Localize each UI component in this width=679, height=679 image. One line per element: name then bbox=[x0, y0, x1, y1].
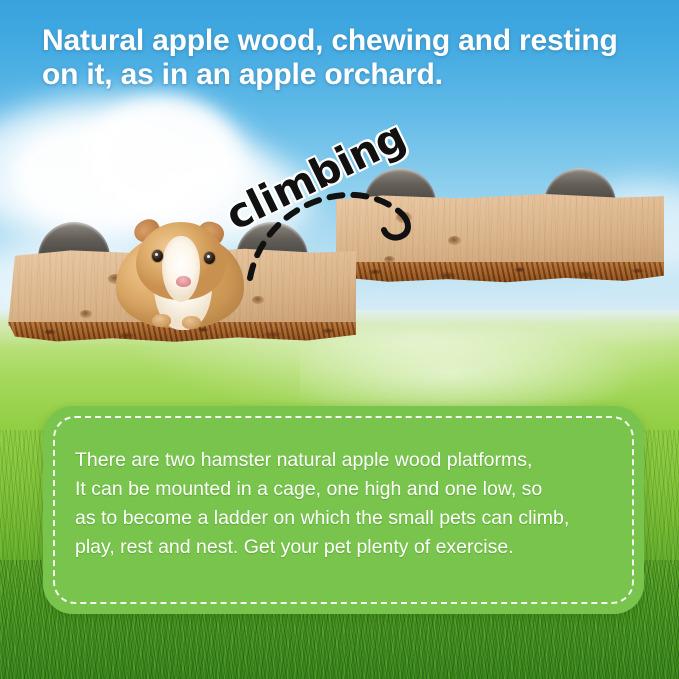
description-panel: There are two hamster natural apple wood… bbox=[43, 406, 644, 614]
page-title: Natural apple wood, chewing and resting … bbox=[42, 24, 652, 92]
guinea-pig-foot-left bbox=[152, 314, 171, 327]
guinea-pig bbox=[110, 210, 250, 330]
guinea-pig-foot-right bbox=[182, 316, 201, 329]
description-line-2: It can be mounted in a cage, one high an… bbox=[75, 475, 615, 504]
description-line-1: There are two hamster natural apple wood… bbox=[75, 446, 615, 475]
description-line-4: play, rest and nest. Get your pet plenty… bbox=[75, 533, 615, 562]
headline-line-1: Natural apple wood, chewing and resting bbox=[42, 24, 652, 58]
wood-knot bbox=[252, 296, 264, 304]
guinea-pig-eye-right bbox=[204, 252, 215, 264]
headline-line-2: on it, as in an apple orchard. bbox=[42, 58, 652, 92]
description-text: There are two hamster natural apple wood… bbox=[75, 446, 615, 562]
wood-knot bbox=[80, 310, 92, 318]
wood-knot bbox=[448, 236, 461, 245]
guinea-pig-eye-left bbox=[152, 250, 163, 262]
product-infographic: Natural apple wood, chewing and resting … bbox=[0, 0, 679, 679]
guinea-pig-nose bbox=[176, 276, 191, 287]
description-line-3: as to become a ladder on which the small… bbox=[75, 504, 615, 533]
